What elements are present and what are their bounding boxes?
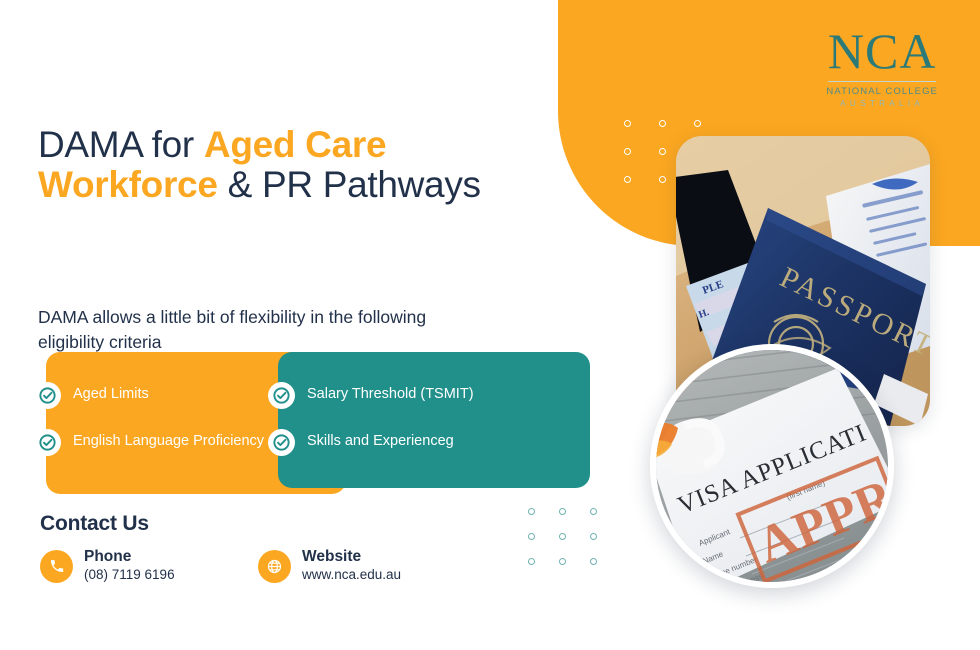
criteria-list-right: Salary Threshold (TSMIT) Skills and Expe… <box>268 382 548 476</box>
logo-divider <box>828 81 936 82</box>
criteria-panels: Aged Limits English Language Proficiency <box>46 352 546 494</box>
criteria-label: Salary Threshold (TSMIT) <box>307 382 474 404</box>
headline-part1: DAMA for <box>38 124 204 165</box>
page-title: DAMA for Aged Care Workforce & PR Pathwa… <box>38 125 518 205</box>
dot-grid-top <box>624 120 701 183</box>
logo-subtitle-line2: AUSTRALIA <box>826 98 938 109</box>
criteria-label: Aged Limits <box>73 382 149 404</box>
dot <box>659 176 666 183</box>
criteria-item: English Language Proficiency <box>34 429 284 456</box>
check-circle-icon <box>34 382 61 409</box>
dot <box>590 558 597 565</box>
dot <box>694 120 701 127</box>
dot <box>659 120 666 127</box>
dot-grid-bottom <box>528 508 597 565</box>
contact-heading: Contact Us <box>40 512 149 536</box>
contact-phone-text: Phone (08) 7119 6196 <box>84 548 175 584</box>
criteria-item: Salary Threshold (TSMIT) <box>268 382 548 409</box>
nca-logo: NCA NATIONAL COLLEGE AUSTRALIA <box>826 26 938 109</box>
dot <box>528 508 535 515</box>
contact-website-label: Website <box>302 548 361 565</box>
dot <box>528 533 535 540</box>
visa-application-approved-photo: VISA APPLICATI Applicant Name Phone numb… <box>650 344 894 588</box>
dot <box>559 508 566 515</box>
phone-icon <box>40 550 73 583</box>
dot <box>559 533 566 540</box>
check-circle-icon <box>268 429 295 456</box>
contact-website-text: Website www.nca.edu.au <box>302 548 401 584</box>
dot <box>659 148 666 155</box>
dot <box>624 148 631 155</box>
contact-phone-label: Phone <box>84 548 131 565</box>
poster-canvas: PLE H. PASSPORT <box>0 0 980 650</box>
contact-phone-value: (08) 7119 6196 <box>84 566 175 584</box>
logo-wordmark: NCA <box>826 26 938 76</box>
criteria-item: Skills and Experienceg <box>268 429 548 456</box>
criteria-label: Skills and Experienceg <box>307 429 454 451</box>
criteria-label: English Language Proficiency <box>73 429 264 451</box>
check-circle-icon <box>34 429 61 456</box>
dot <box>624 176 631 183</box>
dot <box>559 558 566 565</box>
dot <box>624 120 631 127</box>
contact-phone[interactable]: Phone (08) 7119 6196 <box>40 548 175 584</box>
dot <box>590 533 597 540</box>
criteria-item: Aged Limits <box>34 382 284 409</box>
check-circle-icon <box>268 382 295 409</box>
globe-icon <box>258 550 291 583</box>
logo-subtitle-line1: NATIONAL COLLEGE <box>826 86 938 98</box>
dot <box>590 508 597 515</box>
criteria-list-left: Aged Limits English Language Proficiency <box>34 382 284 476</box>
contact-website[interactable]: Website www.nca.edu.au <box>258 548 401 584</box>
contact-website-value: www.nca.edu.au <box>302 566 401 584</box>
dot <box>528 558 535 565</box>
headline-part2: & PR Pathways <box>218 164 481 205</box>
subheading: DAMA allows a little bit of flexibility … <box>38 305 488 355</box>
